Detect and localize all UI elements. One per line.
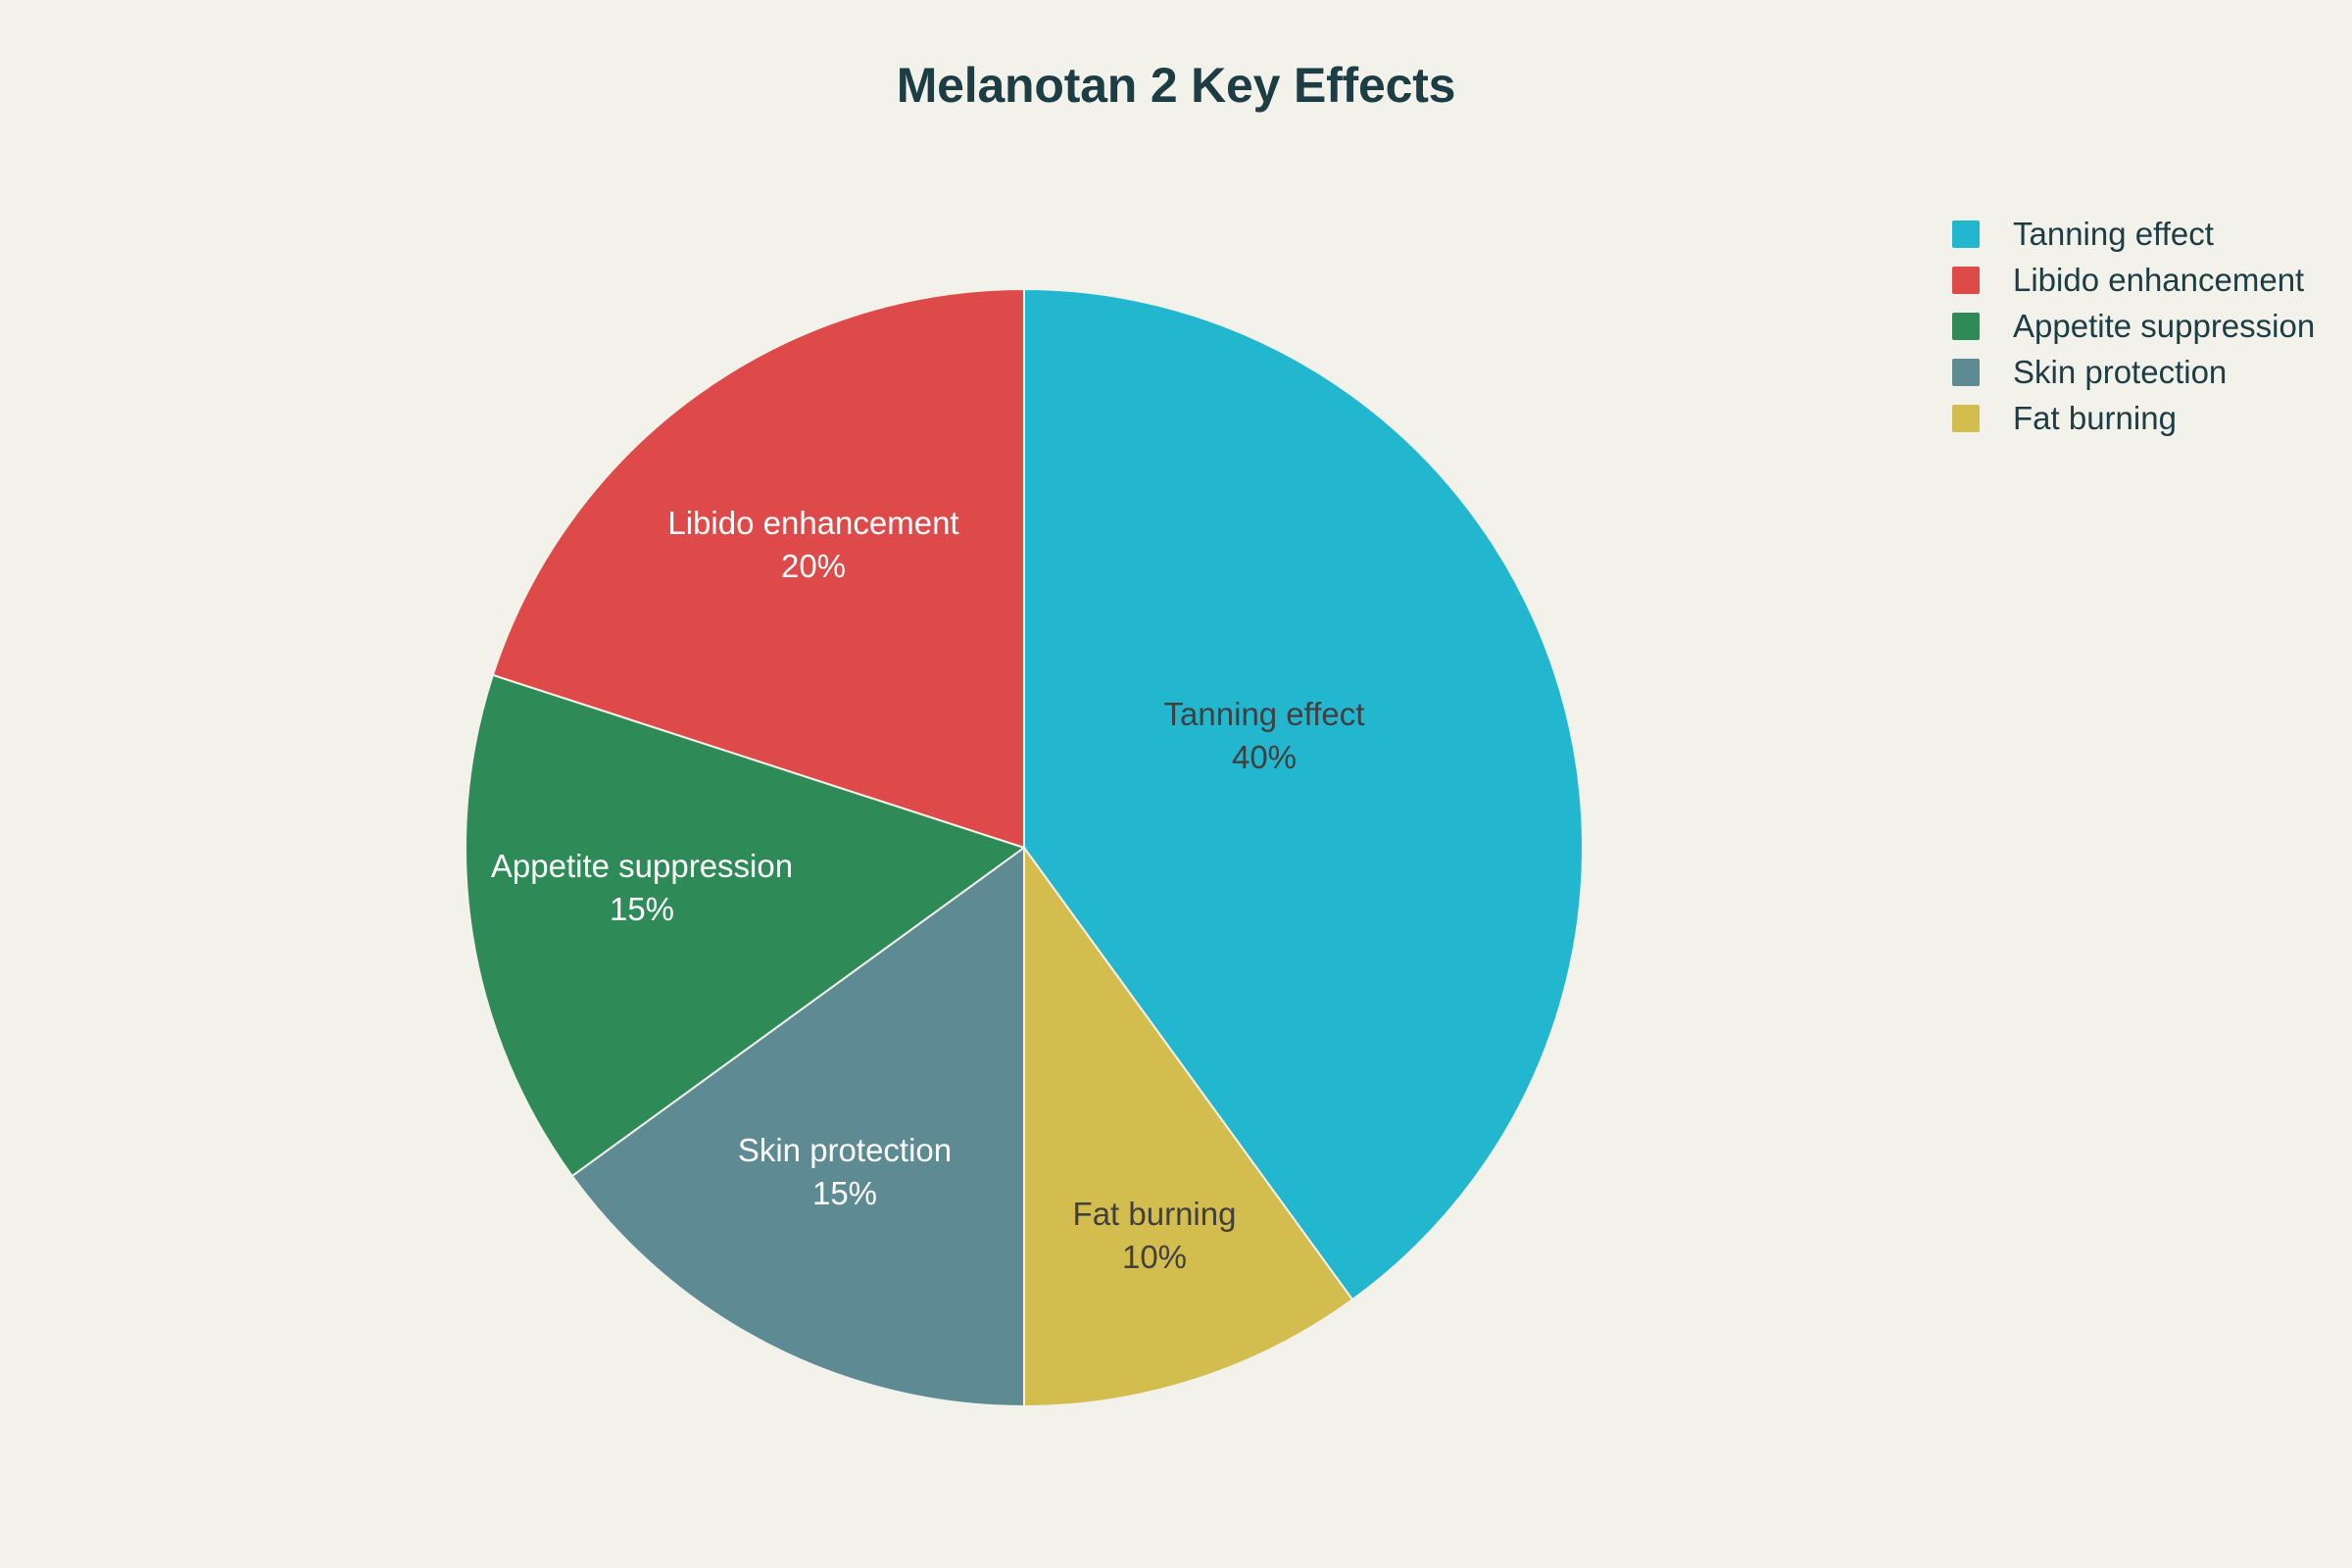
legend-item-label: Appetite suppression — [2013, 310, 2315, 342]
pie-slice-label: Fat burning — [1073, 1196, 1237, 1232]
legend-swatch-icon — [1952, 359, 1980, 386]
legend-item-label: Skin protection — [2013, 356, 2227, 388]
pie-slice-label: Tanning effect — [1164, 696, 1365, 732]
legend-item[interactable]: Tanning effect — [1952, 211, 2344, 257]
pie-slice-label: Libido enhancement — [667, 505, 958, 541]
legend-item-label: Tanning effect — [2013, 218, 2214, 250]
pie-chart-figure: Melanotan 2 Key Effects Tanning effect40… — [0, 0, 2352, 1568]
legend-swatch-icon — [1952, 220, 1980, 248]
legend-item[interactable]: Fat burning — [1952, 395, 2344, 441]
legend-item[interactable]: Skin protection — [1952, 349, 2344, 395]
pie-slice-value: 15% — [812, 1175, 877, 1211]
legend-item[interactable]: Libido enhancement — [1952, 257, 2344, 303]
legend-swatch-icon — [1952, 313, 1980, 340]
legend-item-label: Fat burning — [2013, 402, 2177, 434]
legend-swatch-icon — [1952, 267, 1980, 294]
pie-slice-label: Skin protection — [738, 1132, 952, 1168]
pie-slice-value: 15% — [610, 891, 674, 927]
pie-slice-value: 20% — [781, 548, 846, 584]
chart-legend: Tanning effectLibido enhancementAppetite… — [1952, 211, 2344, 441]
pie-slice-label: Appetite suppression — [491, 848, 793, 884]
pie-slice-value: 40% — [1232, 739, 1297, 775]
legend-item[interactable]: Appetite suppression — [1952, 303, 2344, 349]
legend-item-label: Libido enhancement — [2013, 264, 2304, 296]
pie-slice-value: 10% — [1122, 1239, 1187, 1275]
legend-swatch-icon — [1952, 405, 1980, 432]
